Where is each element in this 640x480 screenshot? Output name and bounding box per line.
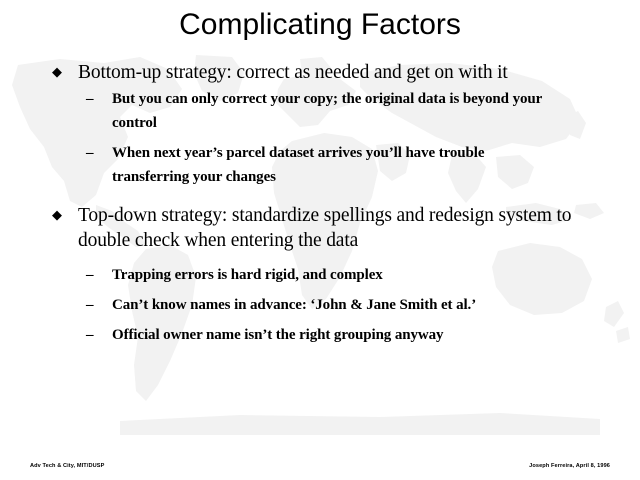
bullet-level2: – Trapping errors is hard rigid, and com… — [0, 263, 640, 287]
bullet-level2-text: Can’t know names in advance: ‘John & Jan… — [112, 297, 476, 313]
slide-body: ◆ Bottom-up strategy: correct as needed … — [0, 60, 640, 347]
dash-bullet-icon: – — [86, 323, 93, 347]
bullet-level2: – Official owner name isn’t the right gr… — [0, 323, 640, 347]
bullet-level1-text: Top-down strategy: standardize spellings… — [78, 205, 571, 251]
bullet-level1: ◆ Bottom-up strategy: correct as needed … — [0, 60, 640, 85]
diamond-bullet-icon: ◆ — [52, 60, 62, 85]
bullet-level2-text: Official owner name isn’t the right grou… — [112, 327, 443, 343]
dash-bullet-icon: – — [86, 263, 93, 287]
spacer — [0, 255, 640, 263]
diamond-bullet-icon: ◆ — [52, 203, 62, 228]
presentation-slide: Complicating Factors ◆ Bottom-up strateg… — [0, 0, 640, 480]
footer-left-text: Adv Tech & City, MIT/DUSP — [30, 463, 104, 469]
dash-bullet-icon: – — [86, 141, 93, 165]
dash-bullet-icon: – — [86, 293, 93, 317]
bullet-level2-emphasis: copy — [303, 91, 333, 107]
bullet-level2: – When next year’s parcel dataset arrive… — [0, 141, 640, 189]
bullet-level2-text: Trapping errors is hard rigid, and compl… — [112, 267, 383, 283]
page-title: Complicating Factors — [0, 8, 640, 42]
bullet-level1: ◆ Top-down strategy: standardize spellin… — [0, 203, 640, 253]
bullet-level2-text: But you can only correct your copy; the … — [112, 91, 542, 131]
footer-right-text: Joseph Ferreira, April 8, 1996 — [529, 463, 610, 469]
bullet-level2-text: When next year’s parcel dataset arrives … — [112, 145, 484, 185]
bullet-level2-text-before: But you can only correct your — [112, 91, 303, 107]
dash-bullet-icon: – — [86, 87, 93, 111]
bullet-level1-text: Bottom-up strategy: correct as needed an… — [78, 62, 508, 83]
bullet-level2: – But you can only correct your copy; th… — [0, 87, 640, 135]
bullet-level2: – Can’t know names in advance: ‘John & J… — [0, 293, 640, 317]
spacer — [0, 189, 640, 203]
